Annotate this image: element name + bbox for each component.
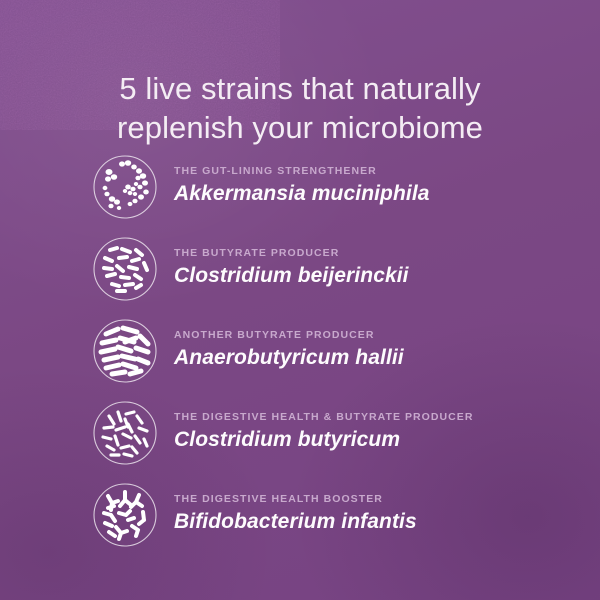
strain-name: Bifidobacterium infantis (174, 510, 562, 534)
strain-kicker: THE DIGESTIVE HEALTH & BUTYRATE PRODUCER (174, 412, 562, 424)
strain-name: Clostridium butyricum (174, 428, 562, 452)
strain-name: Anaerobutyricum hallii (174, 346, 562, 370)
petri-dish-branched-icon (92, 482, 158, 548)
strain-name: Akkermansia muciniphila (174, 182, 562, 206)
strain-kicker: THE DIGESTIVE HEALTH BOOSTER (174, 494, 562, 506)
strain-kicker: THE GUT-LINING STRENGTHENER (174, 166, 562, 178)
list-item: ANOTHER BUTYRATE PRODUCER Anaerobutyricu… (92, 310, 562, 392)
list-item: THE DIGESTIVE HEALTH & BUTYRATE PRODUCER… (92, 392, 562, 474)
strain-text: THE DIGESTIVE HEALTH BOOSTER Bifidobacte… (174, 494, 562, 537)
headline-line-1: 5 live strains that naturally (119, 71, 480, 106)
strain-text: THE BUTYRATE PRODUCER Clostridium beijer… (174, 248, 562, 291)
strain-list: THE GUT-LINING STRENGTHENER Akkermansia … (92, 146, 562, 556)
list-item: THE BUTYRATE PRODUCER Clostridium beijer… (92, 228, 562, 310)
petri-dish-short-rods-icon (92, 236, 158, 302)
list-item: THE DIGESTIVE HEALTH BOOSTER Bifidobacte… (92, 474, 562, 556)
list-item: THE GUT-LINING STRENGTHENER Akkermansia … (92, 146, 562, 228)
strain-text: ANOTHER BUTYRATE PRODUCER Anaerobutyricu… (174, 330, 562, 373)
petri-dish-long-rods-icon (92, 318, 158, 384)
strain-kicker: ANOTHER BUTYRATE PRODUCER (174, 330, 562, 342)
strain-text: THE GUT-LINING STRENGTHENER Akkermansia … (174, 166, 562, 209)
petri-dish-cocci-icon (92, 154, 158, 220)
promo-poster: 5 live strains that naturally replenish … (0, 0, 600, 600)
strain-text: THE DIGESTIVE HEALTH & BUTYRATE PRODUCER… (174, 412, 562, 455)
headline-line-2: replenish your microbiome (117, 110, 483, 145)
petri-dish-thin-rods-icon (92, 400, 158, 466)
strain-name: Clostridium beijerinckii (174, 264, 562, 288)
page-title: 5 live strains that naturally replenish … (0, 69, 600, 148)
strain-kicker: THE BUTYRATE PRODUCER (174, 248, 562, 260)
